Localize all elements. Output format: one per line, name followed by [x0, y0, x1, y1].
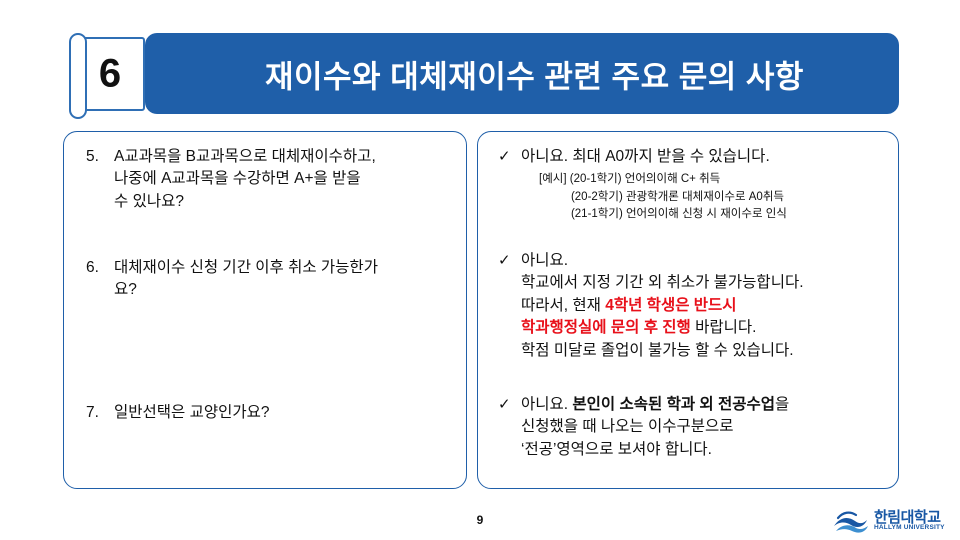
- answer-example: [예시] (20-1학기) 언어의이해 C+ 취득 (20-2학기) 관광학개론…: [539, 171, 884, 223]
- question-text: 일반선택은 교양인가요?: [114, 402, 446, 424]
- answer-line: 아니요. 최대 A0까지 받을 수 있습니다.: [521, 146, 884, 168]
- answer-body: 아니요. 학교에서 지정 기간 외 취소가 불가능합니다. 따라서, 현재 4학…: [521, 250, 884, 362]
- slide-header: 재이수와 대체재이수 관련 주요 문의 사항 6: [63, 33, 899, 114]
- question-item: 5. A교과목을 B교과목으로 대체재이수하고, 나중에 A교과목을 수강하면 …: [86, 146, 446, 213]
- section-number: 6: [77, 52, 143, 97]
- answer-item: ✓ 아니요. 학교에서 지정 기간 외 취소가 불가능합니다. 따라서, 현재 …: [498, 250, 884, 362]
- answer-item: ✓ 아니요. 최대 A0까지 받을 수 있습니다. [예시] (20-1학기) …: [498, 146, 884, 223]
- answer-body: 아니요. 최대 A0까지 받을 수 있습니다. [예시] (20-1학기) 언어…: [521, 146, 884, 223]
- question-line: 대체재이수 신청 기간 이후 취소 가능한가: [114, 257, 446, 279]
- answer-line: 학과행정실에 문의 후 진행 바랍니다.: [521, 317, 884, 339]
- answer-bold: 전공수업: [718, 396, 775, 413]
- answers-panel: ✓ 아니요. 최대 A0까지 받을 수 있습니다. [예시] (20-1학기) …: [477, 131, 899, 489]
- question-line: 요?: [114, 279, 446, 301]
- check-icon: ✓: [498, 394, 518, 416]
- answer-line: 학교에서 지정 기간 외 취소가 불가능합니다.: [521, 272, 884, 294]
- answer-highlight: 학과행정실에 문의 후 진행: [521, 319, 691, 336]
- section-number-box: 6: [75, 37, 145, 111]
- answer-text-post: 바랍니다.: [691, 319, 757, 336]
- check-icon: ✓: [498, 146, 518, 168]
- question-text: 대체재이수 신청 기간 이후 취소 가능한가 요?: [114, 257, 446, 302]
- answer-text-post: 을: [775, 396, 789, 413]
- answer-text-pre: 아니요.: [521, 396, 572, 413]
- answer-line: 아니요.: [521, 250, 884, 272]
- answer-line: 신청했을 때 나오는 이수구분으로: [521, 416, 884, 438]
- university-logo: 한림대학교 HALLYM UNIVERSITY: [832, 505, 950, 539]
- answer-bold: 본인이 소속된 학과 외: [572, 396, 713, 413]
- answer-line: ‘전공’영역으로 보셔야 합니다.: [521, 439, 884, 461]
- answer-body: 아니요. 본인이 소속된 학과 외 전공수업을 신청했을 때 나오는 이수구분으…: [521, 394, 884, 461]
- question-text: A교과목을 B교과목으로 대체재이수하고, 나중에 A교과목을 수강하면 A+을…: [114, 146, 446, 213]
- question-item: 7. 일반선택은 교양인가요?: [86, 402, 446, 424]
- questions-panel: 5. A교과목을 B교과목으로 대체재이수하고, 나중에 A교과목을 수강하면 …: [63, 131, 467, 489]
- slide: 재이수와 대체재이수 관련 주요 문의 사항 6 5. A교과목을 B교과목으로…: [0, 0, 960, 540]
- answer-highlight: 4학년 학생은 반드시: [605, 297, 736, 314]
- question-line: 나중에 A교과목을 수강하면 A+을 받을: [114, 168, 446, 190]
- question-line: A교과목을 B교과목으로 대체재이수하고,: [114, 146, 446, 168]
- question-line: 수 있나요?: [114, 191, 446, 213]
- header-bar: 재이수와 대체재이수 관련 주요 문의 사항: [145, 33, 899, 114]
- question-number: 5.: [86, 146, 114, 213]
- logo-subtitle: HALLYM UNIVERSITY: [874, 524, 945, 531]
- check-icon: ✓: [498, 250, 518, 272]
- question-line: 일반선택은 교양인가요?: [114, 402, 446, 424]
- answer-line: 아니요. 본인이 소속된 학과 외 전공수업을: [521, 394, 884, 416]
- question-item: 6. 대체재이수 신청 기간 이후 취소 가능한가 요?: [86, 257, 446, 302]
- answer-item: ✓ 아니요. 본인이 소속된 학과 외 전공수업을 신청했을 때 나오는 이수구…: [498, 394, 884, 461]
- answer-text-pre: 따라서, 현재: [521, 297, 605, 314]
- logo-wave-icon: [832, 507, 870, 535]
- answer-line: 학점 미달로 졸업이 불가능 할 수 있습니다.: [521, 340, 884, 362]
- question-number: 7.: [86, 402, 114, 424]
- page-number: 9: [0, 513, 960, 527]
- page-title: 재이수와 대체재이수 관련 주요 문의 사항: [265, 51, 804, 96]
- answer-line: 따라서, 현재 4학년 학생은 반드시: [521, 295, 884, 317]
- question-number: 6.: [86, 257, 114, 302]
